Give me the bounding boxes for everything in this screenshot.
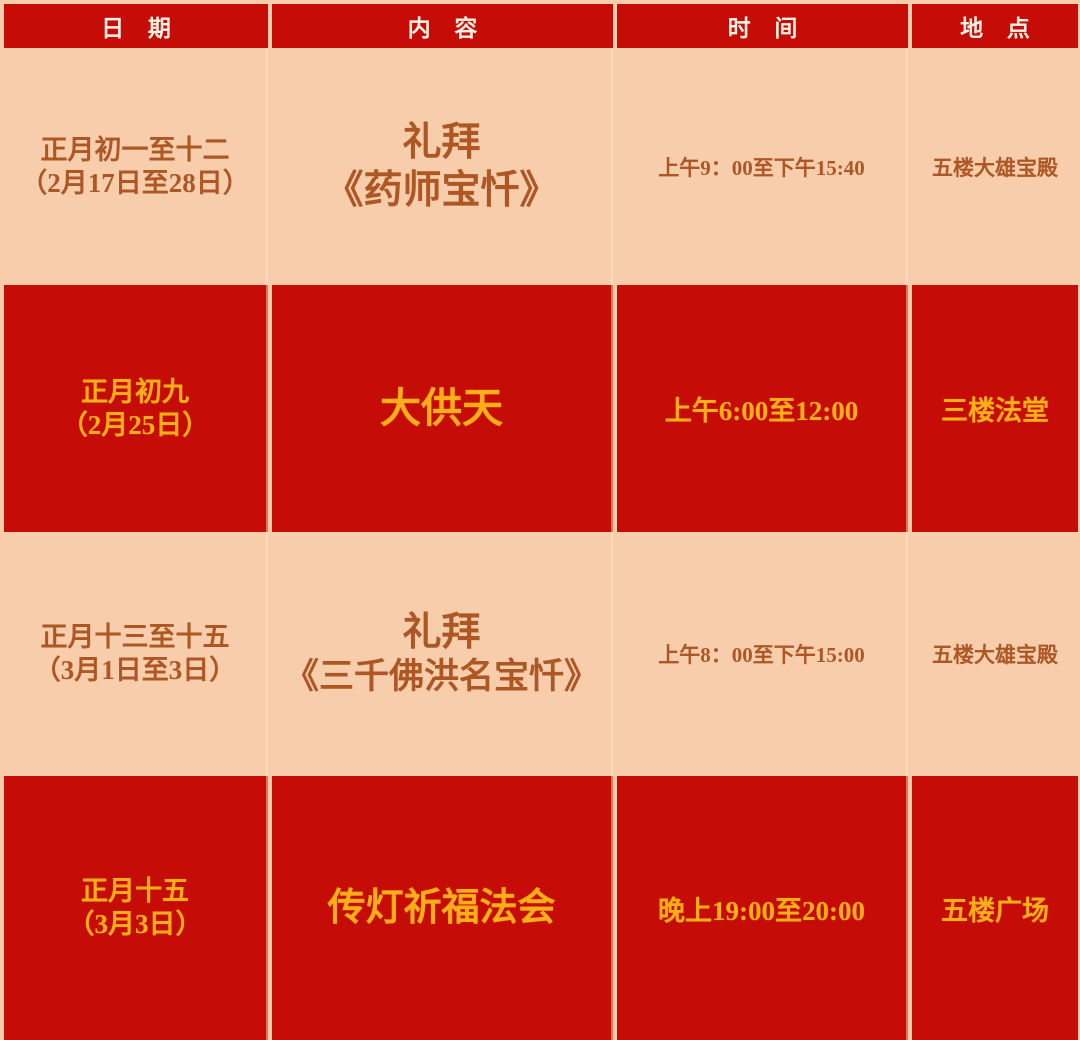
column-header-content-label: 内 容 bbox=[399, 9, 487, 43]
time-text: 晚上19:00至20:00 bbox=[658, 889, 865, 928]
place-text: 五楼大雄宝殿 bbox=[932, 152, 1058, 182]
cell-date: 正月初九 （2月25日） bbox=[4, 285, 268, 532]
cell-time: 上午6:00至12:00 bbox=[617, 285, 908, 532]
cell-date: 正月初一至十二 （2月17日至28日） bbox=[4, 48, 268, 285]
column-header-place: 地 点 bbox=[912, 4, 1078, 48]
cell-time: 上午8：00至下午15:00 bbox=[617, 532, 908, 776]
date-primary: 正月初一至十二 bbox=[20, 134, 250, 167]
content-secondary: 《药师宝忏》 bbox=[324, 167, 558, 215]
column-header-place-label: 地 点 bbox=[951, 9, 1039, 43]
cell-place: 五楼广场 bbox=[912, 776, 1078, 1040]
place-text: 三楼法堂 bbox=[941, 389, 1049, 428]
date-secondary: （2月25日） bbox=[61, 409, 210, 442]
content-secondary: 《三千佛洪名宝忏》 bbox=[284, 656, 599, 699]
table-row: 正月初一至十二 （2月17日至28日） 礼拜 《药师宝忏》 上午9：00至下午1… bbox=[0, 48, 1080, 285]
cell-date: 正月十三至十五 （3月1日至3日） bbox=[4, 532, 268, 776]
cell-content: 礼拜 《三千佛洪名宝忏》 bbox=[272, 532, 613, 776]
table-row: 正月十三至十五 （3月1日至3日） 礼拜 《三千佛洪名宝忏》 上午8：00至下午… bbox=[0, 532, 1080, 776]
time-text: 上午8：00至下午15:00 bbox=[658, 639, 865, 669]
content-primary: 礼拜 bbox=[284, 609, 599, 657]
cell-place: 五楼大雄宝殿 bbox=[912, 532, 1078, 776]
column-header-time: 时 间 bbox=[617, 4, 908, 48]
cell-content: 传灯祈福法会 bbox=[272, 776, 613, 1040]
cell-date: 正月十五 （3月3日） bbox=[4, 776, 268, 1040]
date-primary: 正月初九 bbox=[61, 376, 210, 409]
cell-place: 五楼大雄宝殿 bbox=[912, 48, 1078, 285]
table-header-row: 日 期 内 容 时 间 地 点 bbox=[0, 0, 1080, 48]
place-text: 五楼大雄宝殿 bbox=[932, 639, 1058, 669]
cell-time: 晚上19:00至20:00 bbox=[617, 776, 908, 1040]
date-secondary: （3月3日） bbox=[68, 908, 203, 941]
cell-place: 三楼法堂 bbox=[912, 285, 1078, 532]
time-text: 上午9：00至下午15:40 bbox=[658, 152, 865, 182]
time-text: 上午6:00至12:00 bbox=[665, 389, 858, 428]
column-header-date-label: 日 期 bbox=[92, 9, 180, 43]
date-primary: 正月十三至十五 bbox=[34, 621, 237, 654]
column-header-date: 日 期 bbox=[4, 4, 268, 48]
table-row: 正月初九 （2月25日） 大供天 上午6:00至12:00 三楼法堂 bbox=[0, 285, 1080, 532]
table-row: 正月十五 （3月3日） 传灯祈福法会 晚上19:00至20:00 五楼广场 bbox=[0, 776, 1080, 1040]
date-primary: 正月十五 bbox=[68, 875, 203, 908]
date-secondary: （3月1日至3日） bbox=[34, 654, 237, 687]
content-primary: 大供天 bbox=[380, 383, 503, 433]
schedule-table: 日 期 内 容 时 间 地 点 正月初一至十二 （2月17日至28日） 礼拜 《… bbox=[0, 0, 1080, 1040]
content-primary: 传灯祈福法会 bbox=[327, 885, 555, 931]
cell-content: 大供天 bbox=[272, 285, 613, 532]
content-primary: 礼拜 bbox=[324, 119, 558, 167]
column-header-content: 内 容 bbox=[272, 4, 613, 48]
column-header-time-label: 时 间 bbox=[719, 9, 807, 43]
cell-content: 礼拜 《药师宝忏》 bbox=[272, 48, 613, 285]
place-text: 五楼广场 bbox=[941, 889, 1049, 928]
date-secondary: （2月17日至28日） bbox=[20, 167, 250, 200]
cell-time: 上午9：00至下午15:40 bbox=[617, 48, 908, 285]
